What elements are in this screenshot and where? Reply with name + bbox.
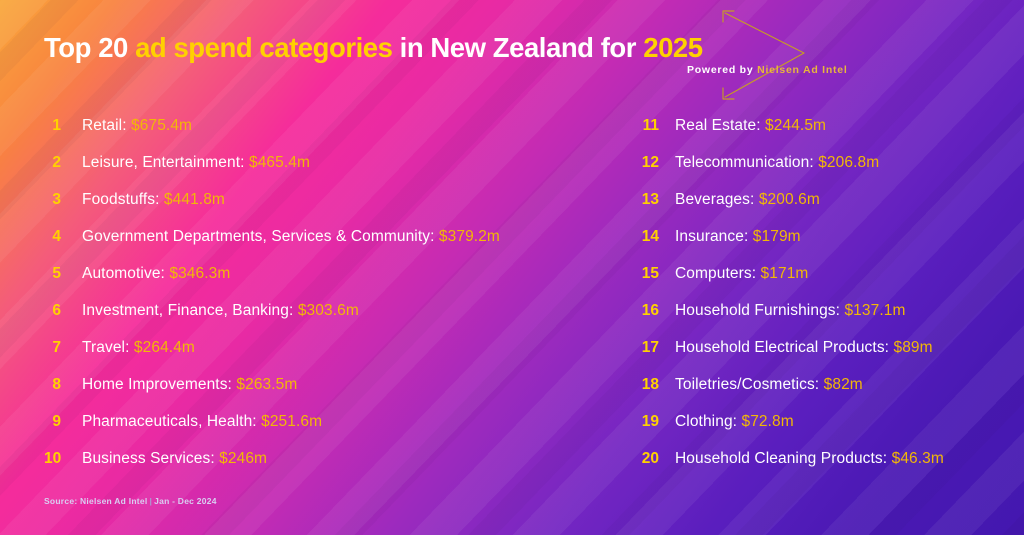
rank-number: 14 xyxy=(637,228,659,246)
category-entry: Beverages: $200.6m xyxy=(675,191,820,209)
list-item: 13Beverages: $200.6m xyxy=(637,191,1017,228)
rank-number: 15 xyxy=(637,265,659,283)
list-item: 9Pharmaceuticals, Health: $251.6m xyxy=(44,413,624,450)
category-name: Business Services: xyxy=(82,450,219,467)
category-entry: Insurance: $179m xyxy=(675,228,801,246)
page-title-part-2: in New Zealand for xyxy=(392,32,643,63)
category-name: Household Electrical Products: xyxy=(675,339,893,356)
category-amount: $379.2m xyxy=(439,228,500,245)
page-title-text: Top 20 ad spend categories in New Zealan… xyxy=(44,32,703,63)
rank-number: 12 xyxy=(637,154,659,172)
list-item: 14Insurance: $179m xyxy=(637,228,1017,265)
rank-number: 10 xyxy=(44,450,61,468)
list-item: 12Telecommunication: $206.8m xyxy=(637,154,1017,191)
source-label: Source: Nielsen Ad Intel xyxy=(44,496,147,506)
rank-number: 16 xyxy=(637,302,659,320)
rank-number: 17 xyxy=(637,339,659,357)
list-item: 8Home Improvements: $263.5m xyxy=(44,376,624,413)
list-item: 19Clothing: $72.8m xyxy=(637,413,1017,450)
category-entry: Household Electrical Products: $89m xyxy=(675,339,933,357)
ranking-column-right: 11Real Estate: $244.5m12Telecommunicatio… xyxy=(637,117,1017,487)
category-name: Leisure, Entertainment: xyxy=(82,154,249,171)
category-entry: Toiletries/Cosmetics: $82m xyxy=(675,376,863,394)
category-entry: Foodstuffs: $441.8m xyxy=(82,191,225,209)
page-title-part-1: ad spend categories xyxy=(135,32,392,63)
category-entry: Leisure, Entertainment: $465.4m xyxy=(82,154,310,172)
list-item: 5Automotive: $346.3m xyxy=(44,265,624,302)
rank-number: 19 xyxy=(637,413,659,431)
rank-number: 2 xyxy=(44,154,61,172)
poster-background: Top 20 ad spend categories in New Zealan… xyxy=(0,0,1024,535)
category-name: Travel: xyxy=(82,339,134,356)
category-amount: $441.8m xyxy=(164,191,225,208)
category-amount: $246m xyxy=(219,450,267,467)
category-name: Telecommunication: xyxy=(675,154,818,171)
category-amount: $89m xyxy=(893,339,932,356)
page-title: Top 20 ad spend categories in New Zealan… xyxy=(44,33,703,63)
list-item: 2Leisure, Entertainment: $465.4m xyxy=(44,154,624,191)
rank-number: 7 xyxy=(44,339,61,357)
category-entry: Retail: $675.4m xyxy=(82,117,192,135)
category-name: Insurance: xyxy=(675,228,753,245)
category-amount: $137.1m xyxy=(844,302,905,319)
category-amount: $346.3m xyxy=(169,265,230,282)
page-title-part-3: 2025 xyxy=(643,32,702,63)
category-amount: $46.3m xyxy=(892,450,944,467)
ranking-column-left: 1Retail: $675.4m2Leisure, Entertainment:… xyxy=(44,117,624,487)
category-name: Government Departments, Services & Commu… xyxy=(82,228,439,245)
category-entry: Telecommunication: $206.8m xyxy=(675,154,879,172)
category-name: Real Estate: xyxy=(675,117,765,134)
rank-number: 1 xyxy=(44,117,61,135)
source-period: Jan - Dec 2024 xyxy=(154,496,217,506)
category-amount: $264.4m xyxy=(134,339,195,356)
category-entry: Business Services: $246m xyxy=(82,450,267,468)
category-entry: Investment, Finance, Banking: $303.6m xyxy=(82,302,359,320)
list-item: 20Household Cleaning Products: $46.3m xyxy=(637,450,1017,487)
rank-number: 4 xyxy=(44,228,61,246)
category-amount: $82m xyxy=(824,376,863,393)
list-item: 4Government Departments, Services & Comm… xyxy=(44,228,624,265)
category-name: Pharmaceuticals, Health: xyxy=(82,413,261,430)
category-name: Home Improvements: xyxy=(82,376,236,393)
category-name: Clothing: xyxy=(675,413,741,430)
category-amount: $263.5m xyxy=(236,376,297,393)
category-name: Computers: xyxy=(675,265,761,282)
category-amount: $465.4m xyxy=(249,154,310,171)
rank-number: 8 xyxy=(44,376,61,394)
category-entry: Travel: $264.4m xyxy=(82,339,195,357)
category-entry: Government Departments, Services & Commu… xyxy=(82,228,500,246)
rank-number: 11 xyxy=(637,117,659,135)
rank-number: 18 xyxy=(637,376,659,394)
source-note: Source: Nielsen Ad Intel|Jan - Dec 2024 xyxy=(44,496,217,506)
category-name: Automotive: xyxy=(82,265,169,282)
category-entry: Household Furnishings: $137.1m xyxy=(675,302,905,320)
powered-by: Powered by Nielsen Ad Intel xyxy=(687,64,848,76)
list-item: 3Foodstuffs: $441.8m xyxy=(44,191,624,228)
list-item: 15Computers: $171m xyxy=(637,265,1017,302)
rank-number: 9 xyxy=(44,413,61,431)
category-entry: Computers: $171m xyxy=(675,265,808,283)
powered-by-label: Powered by xyxy=(687,64,753,76)
rank-number: 3 xyxy=(44,191,61,209)
list-item: 16Household Furnishings: $137.1m xyxy=(637,302,1017,339)
list-item: 18Toiletries/Cosmetics: $82m xyxy=(637,376,1017,413)
category-entry: Pharmaceuticals, Health: $251.6m xyxy=(82,413,322,431)
category-amount: $303.6m xyxy=(298,302,359,319)
category-entry: Clothing: $72.8m xyxy=(675,413,794,431)
category-amount: $72.8m xyxy=(741,413,793,430)
category-amount: $675.4m xyxy=(131,117,192,134)
list-item: 17Household Electrical Products: $89m xyxy=(637,339,1017,376)
category-name: Household Furnishings: xyxy=(675,302,844,319)
category-amount: $179m xyxy=(753,228,801,245)
category-entry: Household Cleaning Products: $46.3m xyxy=(675,450,944,468)
category-amount: $200.6m xyxy=(759,191,820,208)
category-name: Toiletries/Cosmetics: xyxy=(675,376,824,393)
rank-number: 5 xyxy=(44,265,61,283)
category-name: Beverages: xyxy=(675,191,759,208)
powered-by-brand: Nielsen Ad Intel xyxy=(757,64,847,76)
rank-number: 13 xyxy=(637,191,659,209)
category-name: Investment, Finance, Banking: xyxy=(82,302,298,319)
category-amount: $251.6m xyxy=(261,413,322,430)
category-amount: $206.8m xyxy=(818,154,879,171)
category-amount: $244.5m xyxy=(765,117,826,134)
rank-number: 20 xyxy=(637,450,659,468)
category-name: Foodstuffs: xyxy=(82,191,164,208)
category-amount: $171m xyxy=(761,265,809,282)
category-name: Retail: xyxy=(82,117,131,134)
category-entry: Home Improvements: $263.5m xyxy=(82,376,297,394)
arrow-chevron-outline-icon xyxy=(716,6,814,104)
list-item: 1Retail: $675.4m xyxy=(44,117,624,154)
list-item: 11Real Estate: $244.5m xyxy=(637,117,1017,154)
rank-number: 6 xyxy=(44,302,61,320)
category-entry: Real Estate: $244.5m xyxy=(675,117,826,135)
page-title-part-0: Top 20 xyxy=(44,32,135,63)
list-item: 10Business Services: $246m xyxy=(44,450,624,487)
category-name: Household Cleaning Products: xyxy=(675,450,892,467)
category-entry: Automotive: $346.3m xyxy=(82,265,230,283)
list-item: 7Travel: $264.4m xyxy=(44,339,624,376)
list-item: 6Investment, Finance, Banking: $303.6m xyxy=(44,302,624,339)
